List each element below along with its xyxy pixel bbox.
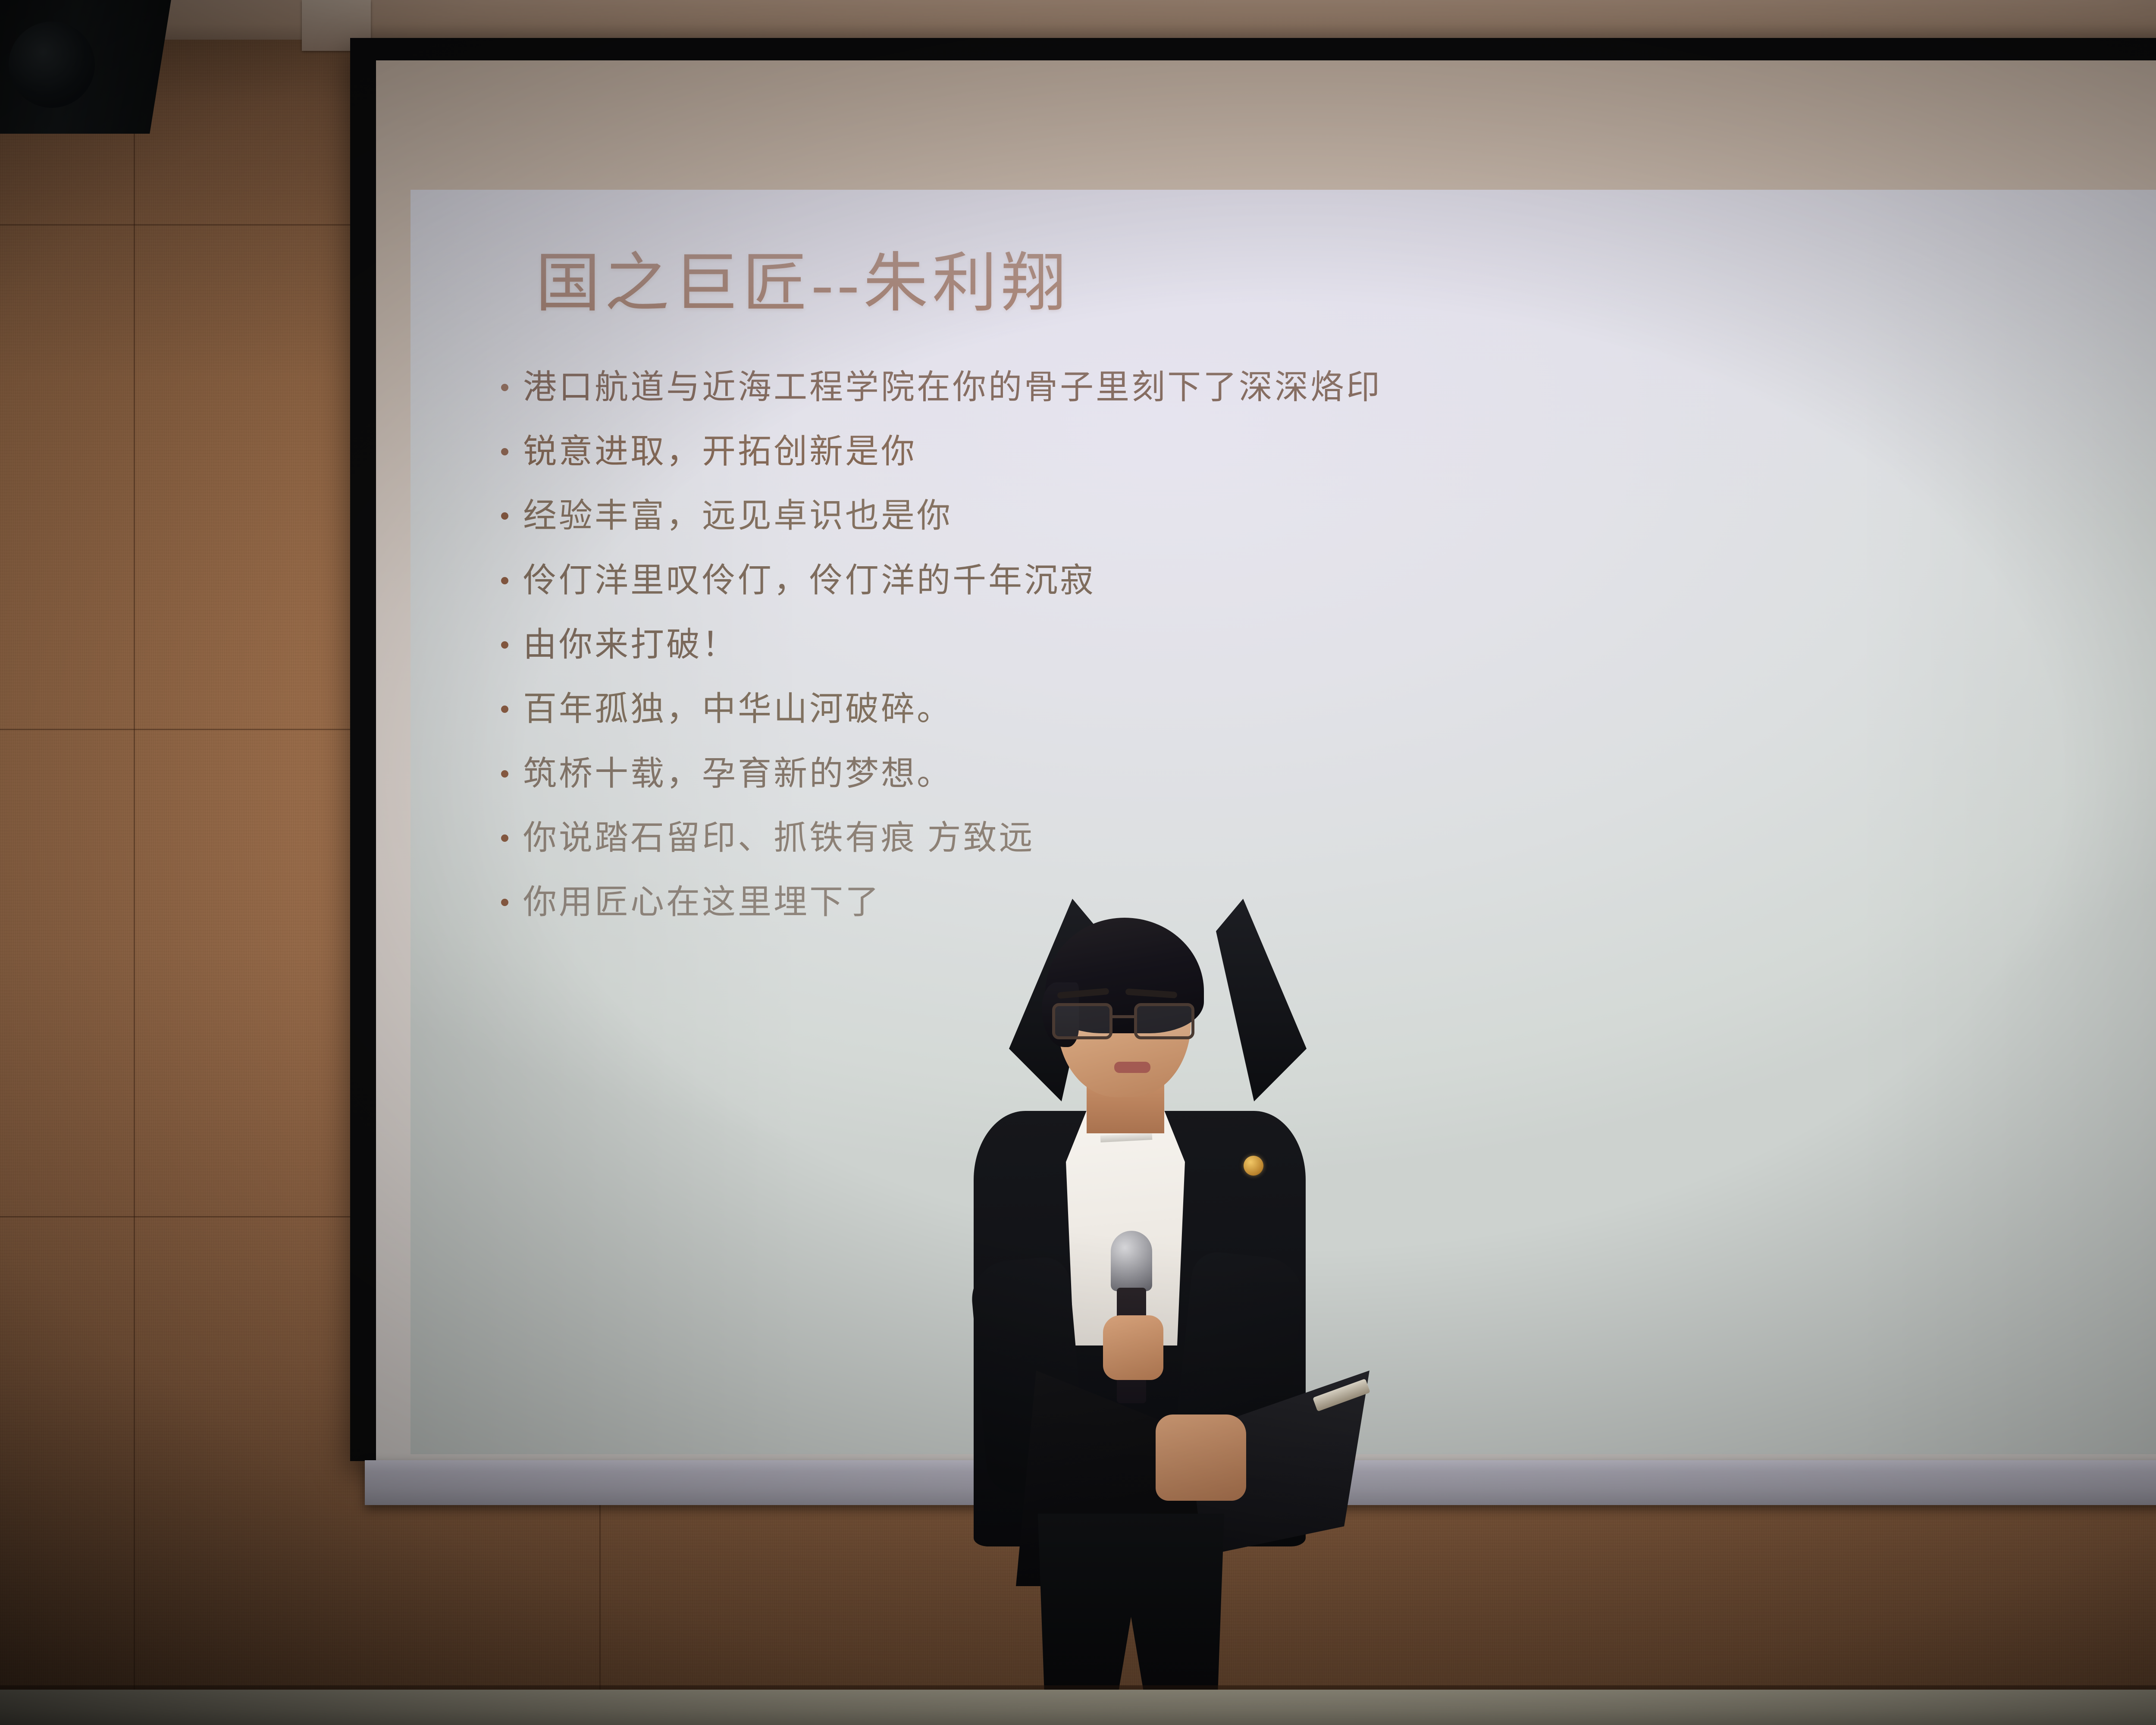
slide-bullet-text: 经验丰富，远见卓识也是你: [523, 497, 953, 534]
slide-bullet: 筑桥十载，孕育新的梦想。: [501, 755, 2147, 792]
slide-bullet-text: 锐意进取，开拓创新是你: [523, 433, 917, 470]
glasses-icon: [1052, 1003, 1194, 1043]
slide-bullet-text: 筑桥十载，孕育新的梦想。: [523, 755, 953, 792]
glasses-lens-right: [1134, 1003, 1194, 1039]
baseboard: [0, 1690, 2156, 1725]
glasses-bridge: [1112, 1015, 1136, 1018]
lapel-pin-icon: [1244, 1156, 1263, 1176]
bullet-dot-icon: [501, 834, 508, 842]
microphone-grille: [1111, 1231, 1152, 1291]
slide-bullet-list: 港口航道与近海工程学院在你的骨子里刻下了深深烙印 锐意进取，开拓创新是你 经验丰…: [501, 368, 2147, 921]
slide-bullet-text: 你说踏石留印、抓铁有痕 方致远: [523, 819, 1035, 856]
photo-scene: 国之巨匠--朱利翔 港口航道与近海工程学院在你的骨子里刻下了深深烙印 锐意进取，…: [0, 0, 2156, 1725]
slide-title: 国之巨匠--朱利翔: [536, 250, 2147, 318]
bullet-dot-icon: [501, 384, 508, 391]
wall-seam: [134, 0, 135, 1725]
speaker-cone-icon: [9, 22, 95, 108]
presenter: [940, 901, 1371, 1725]
bullet-dot-icon: [501, 448, 508, 455]
slide-bullet: 百年孤独，中华山河破碎。: [501, 690, 2147, 728]
slide-bullet: 由你来打破！: [501, 626, 2147, 663]
mouth: [1114, 1062, 1150, 1073]
slide-bullet: 伶仃洋里叹伶仃，伶仃洋的千年沉寂: [501, 561, 2147, 599]
slide-bullet-text: 你用匠心在这里埋下了: [523, 883, 881, 921]
slide-bullet: 经验丰富，远见卓识也是你: [501, 497, 2147, 534]
jacket-lapel-right: [1216, 899, 1307, 1101]
bullet-dot-icon: [501, 512, 508, 520]
bullet-dot-icon: [501, 577, 508, 584]
slide-bullet-text: 百年孤独，中华山河破碎。: [523, 690, 953, 728]
slide-bullet-text: 伶仃洋里叹伶仃，伶仃洋的千年沉寂: [523, 561, 1096, 599]
glasses-lens-left: [1052, 1003, 1112, 1039]
baseboard-shadow: [0, 1685, 2156, 1690]
slide-bullet: 港口航道与近海工程学院在你的骨子里刻下了深深烙印: [501, 368, 2147, 406]
hand-holding-folder: [1156, 1414, 1246, 1501]
bullet-dot-icon: [501, 770, 508, 778]
slide-bullet-text: 由你来打破！: [523, 626, 738, 663]
bullet-dot-icon: [501, 899, 508, 906]
slide-bullet: 锐意进取，开拓创新是你: [501, 433, 2147, 470]
bullet-dot-icon: [501, 706, 508, 713]
slide-bullet: 你说踏石留印、抓铁有痕 方致远: [501, 819, 2147, 856]
wall-speaker-left: [0, 0, 172, 134]
bullet-dot-icon: [501, 641, 508, 649]
slide-bullet-text: 港口航道与近海工程学院在你的骨子里刻下了深深烙印: [523, 368, 1382, 406]
